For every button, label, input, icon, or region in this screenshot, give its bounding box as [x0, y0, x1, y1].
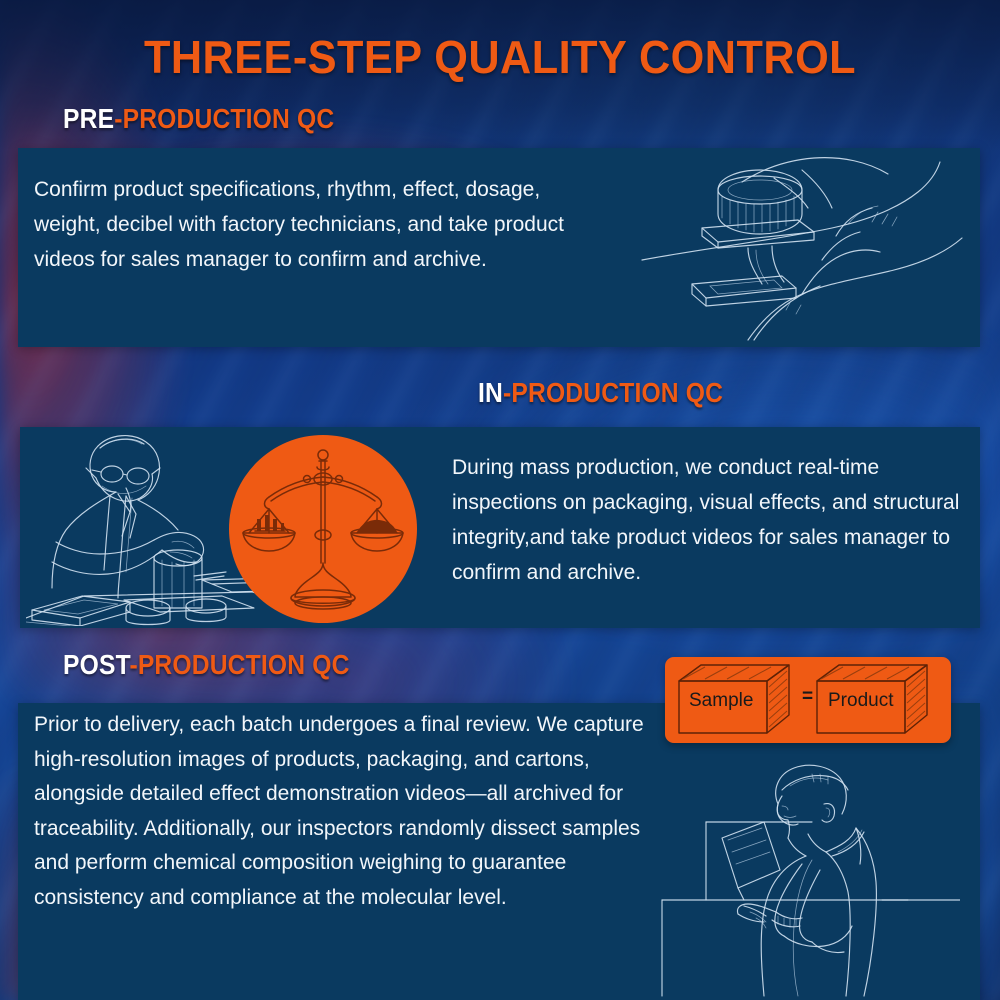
product-label: Product [828, 691, 893, 710]
section-heading-pre: PRE-PRODUCTION QC [63, 104, 334, 134]
equals-sign: = [802, 687, 813, 706]
balance-scale-badge [229, 435, 417, 623]
section-heading-post-white: POST [63, 649, 129, 680]
body-text-post: Prior to delivery, each batch undergoes … [34, 708, 654, 915]
sample-equals-product-card: Sample = Product [665, 657, 951, 743]
section-heading-in-orange: -PRODUCTION QC [503, 377, 723, 408]
man-holding-tablet-icon [660, 760, 960, 1000]
section-heading-pre-orange: -PRODUCTION QC [114, 103, 334, 134]
infographic-page: THREE-STEP QUALITY CONTROL PRE-PRODUCTIO… [0, 0, 1000, 1000]
body-text-pre: Confirm product specifications, rhythm, … [34, 172, 594, 277]
page-title: THREE-STEP QUALITY CONTROL [30, 34, 970, 80]
section-heading-in-white: IN [478, 377, 503, 408]
body-text-in: During mass production, we conduct real-… [452, 450, 980, 590]
section-heading-pre-white: PRE [63, 103, 114, 134]
section-heading-in: IN-PRODUCTION QC [478, 378, 723, 408]
section-heading-post-orange: -PRODUCTION QC [129, 649, 349, 680]
hands-holding-machine-part-icon [636, 152, 966, 342]
section-heading-post: POST-PRODUCTION QC [63, 650, 350, 680]
sample-label: Sample [689, 691, 753, 710]
